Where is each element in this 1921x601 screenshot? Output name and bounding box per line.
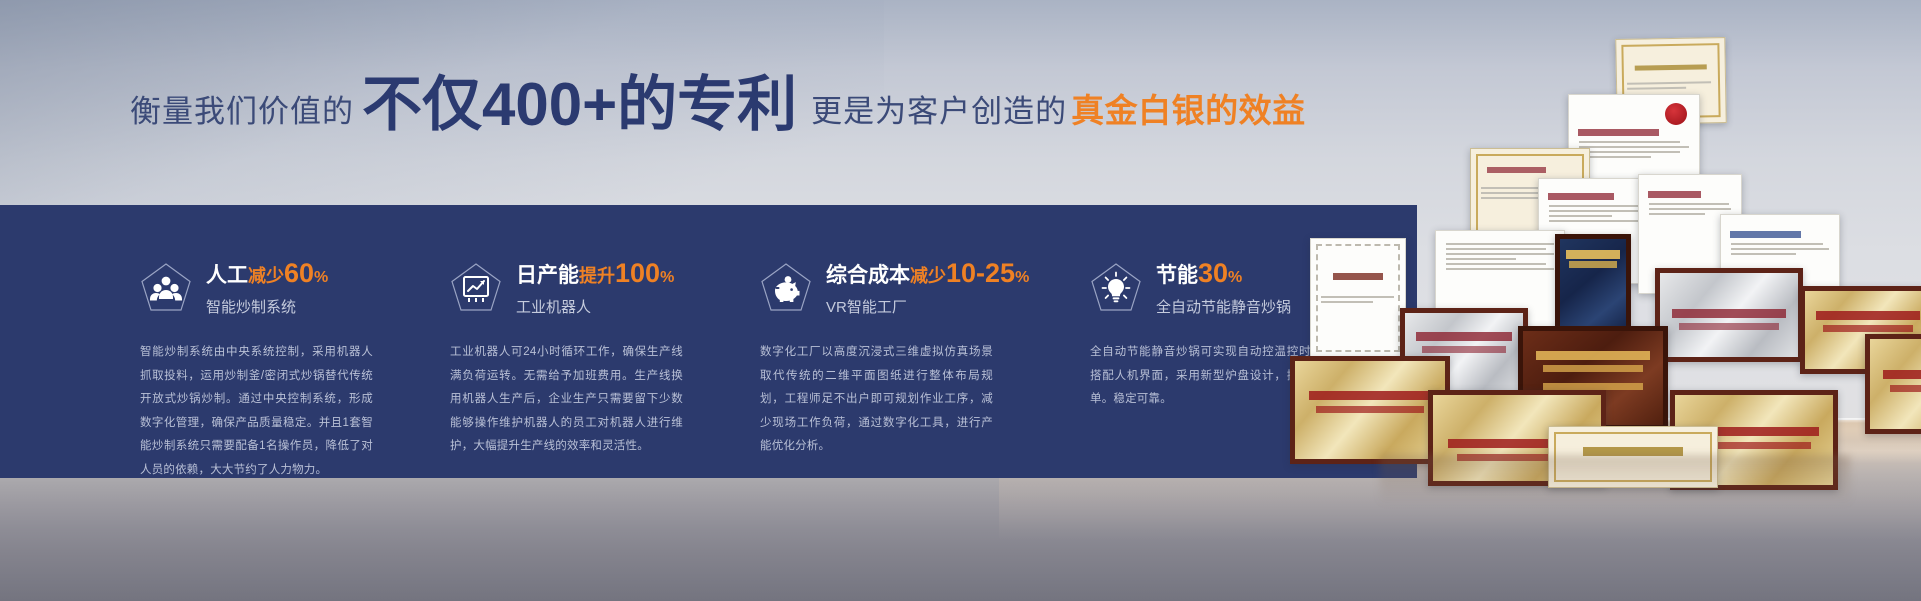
feature-item-2: 日产能提升100% 工业机器人 工业机器人可24小时循环工作，确保生产线满负荷运…: [450, 205, 750, 478]
feature-body-2: 工业机器人可24小时循环工作，确保生产线满负荷运转。无需给予加班费用。生产线换用…: [450, 341, 683, 459]
feature-item-3: 综合成本减少10-25% VR智能工厂 数字化工厂以高度沉浸式三维虚拟仿真场景取…: [760, 205, 1080, 478]
headline-highlight: 真金白银的效益: [1071, 94, 1306, 127]
feature-body-1: 智能炒制系统由中央系统控制，采用机器人抓取投料，运用炒制釜/密闭式炒锅替代传统开…: [140, 341, 373, 482]
feature-panel: 人工减少60% 智能炒制系统 智能炒制系统由中央系统控制，采用机器人抓取投料，运…: [0, 205, 1417, 478]
feature-item-1: 人工减少60% 智能炒制系统 智能炒制系统由中央系统控制，采用机器人抓取投料，运…: [140, 205, 440, 478]
banner-stage: 衡量我们价值的 不仅400+的专利 更是为客户创造的 真金白银的效益: [0, 0, 1921, 601]
certificate-reflection: [1380, 455, 1850, 505]
feature-subtitle-3: VR智能工厂: [826, 296, 1029, 317]
feature-title-1: 人工减少60%: [206, 259, 328, 289]
feature-label-2: 日产能: [516, 264, 579, 287]
award-plaque: [1290, 356, 1450, 464]
certificate-item: [1310, 238, 1406, 358]
piggy-bank-icon: [760, 262, 812, 314]
feature-action-1: 减少: [248, 266, 284, 286]
feature-subtitle-1: 智能炒制系统: [206, 296, 328, 317]
feature-title-3: 综合成本减少10-25%: [826, 259, 1029, 289]
feature-number-2: 100: [615, 258, 660, 288]
award-plaque: [1655, 268, 1803, 362]
feature-number-4: 30: [1198, 258, 1228, 288]
feature-subtitle-2: 工业机器人: [516, 296, 674, 317]
feature-label-1: 人工: [206, 264, 248, 287]
feature-percent-2: %: [660, 269, 674, 286]
headline-strong: 不仅400+的专利: [362, 75, 797, 135]
award-plaque: [1865, 334, 1921, 434]
headline: 衡量我们价值的 不仅400+的专利 更是为客户创造的 真金白银的效益: [130, 72, 1306, 132]
feature-body-3: 数字化工厂以高度沉浸式三维虚拟仿真场景取代传统的二维平面图纸进行整体布局规划，工…: [760, 341, 993, 459]
headline-lead: 衡量我们价值的: [130, 96, 354, 127]
headline-mid: 更是为客户创造的: [811, 96, 1067, 127]
feature-percent-1: %: [314, 269, 328, 286]
feature-action-3: 减少: [910, 266, 946, 286]
feature-label-3: 综合成本: [826, 264, 910, 287]
people-group-icon: [140, 262, 192, 314]
feature-subtitle-4: 全自动节能静音炒锅: [1156, 296, 1291, 317]
feature-action-2: 提升: [579, 266, 615, 286]
feature-percent-4: %: [1228, 269, 1242, 286]
certificate-and-award-wall: [1280, 38, 1921, 478]
feature-percent-3: %: [1015, 269, 1029, 286]
feature-number-3: 10-25: [946, 258, 1015, 288]
chart-board-icon: [450, 262, 502, 314]
lightbulb-icon: [1090, 262, 1142, 314]
feature-title-2: 日产能提升100%: [516, 259, 674, 289]
feature-label-4: 节能: [1156, 264, 1198, 287]
feature-title-4: 节能30%: [1156, 259, 1291, 289]
award-plaque: [1555, 234, 1631, 334]
feature-number-1: 60: [284, 258, 314, 288]
